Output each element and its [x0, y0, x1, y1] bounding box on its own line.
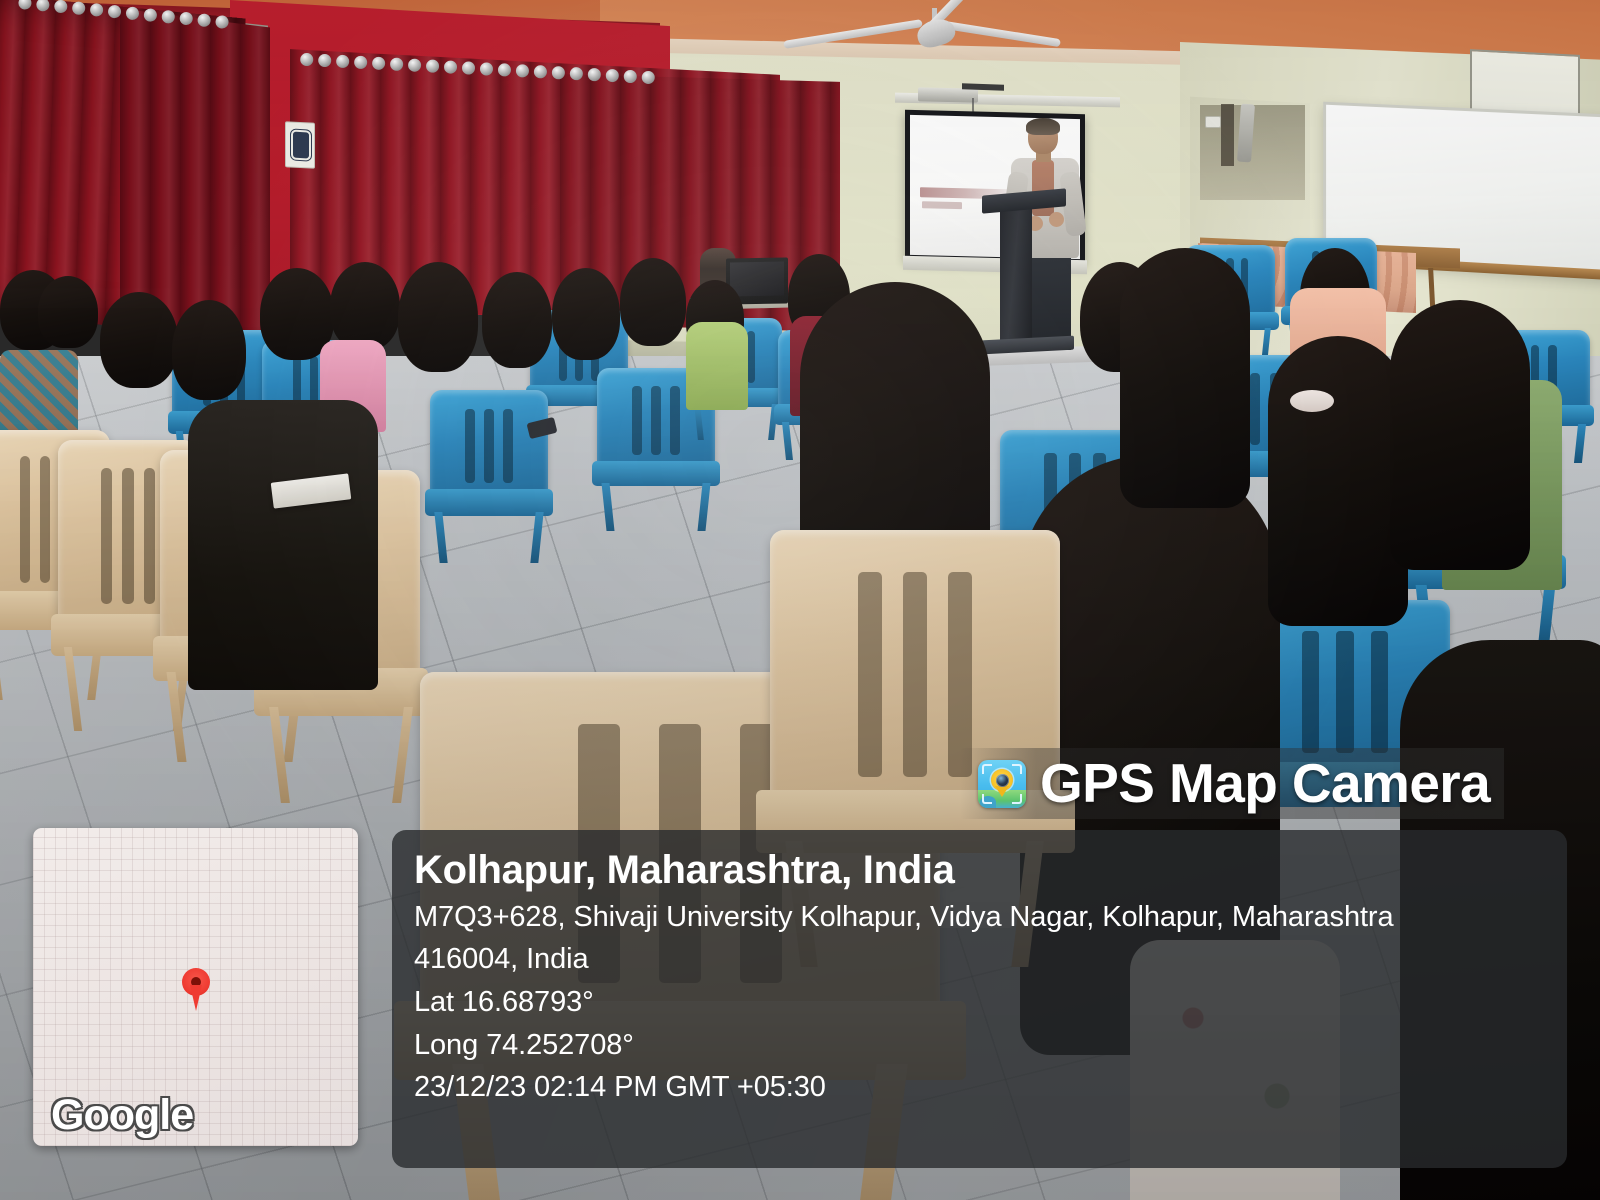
audience-person-green-shirt [686, 322, 748, 410]
audience-person [620, 258, 686, 346]
podium [1000, 198, 1032, 348]
watermark-label: GPS Map Camera [1040, 756, 1490, 811]
audience-person [552, 268, 620, 360]
location-latitude: Lat 16.68793° [414, 981, 1541, 1024]
audience-person-hair-far-right [1390, 300, 1530, 570]
location-address-line-1: M7Q3+628, Shivaji University Kolhapur, V… [414, 896, 1541, 939]
audience-person-hair-right [1268, 336, 1408, 626]
screenshot-root: GPS Map Camera Google Kolhapur, Maharash… [0, 0, 1600, 1200]
hanging-cloth-dark [1221, 104, 1234, 166]
location-title: Kolhapur, Maharashtra, India [414, 848, 1541, 893]
location-timestamp: 23/12/23 02:14 PM GMT +05:30 [414, 1066, 1541, 1109]
audience-person [398, 262, 478, 372]
google-logo: Google [51, 1091, 193, 1140]
no-mobile-phone-sign-icon [285, 121, 315, 169]
ceiling-fan-icon [855, 8, 1045, 62]
audience-person [482, 272, 552, 368]
location-info-panel: Kolhapur, Maharashtra, India M7Q3+628, S… [392, 830, 1567, 1168]
blue-chair [430, 390, 548, 560]
map-pin-icon [182, 968, 210, 996]
curtain-left-inner [120, 9, 270, 338]
hair-scrunchie [1290, 390, 1334, 412]
audience-person-dark-jacket [188, 400, 378, 690]
gps-map-camera-icon [978, 760, 1026, 808]
map-thumbnail[interactable]: Google [33, 828, 358, 1146]
audience-person [172, 300, 246, 400]
gps-map-camera-watermark: GPS Map Camera [960, 748, 1504, 819]
audience-person [100, 292, 178, 388]
projector [918, 87, 978, 102]
audience-person-hair [1120, 248, 1250, 508]
audience-person [330, 262, 400, 350]
location-address-line-2: 416004, India [414, 938, 1541, 981]
wall-socket [1205, 116, 1221, 128]
location-longitude: Long 74.252708° [414, 1024, 1541, 1067]
audience-person [38, 276, 98, 348]
